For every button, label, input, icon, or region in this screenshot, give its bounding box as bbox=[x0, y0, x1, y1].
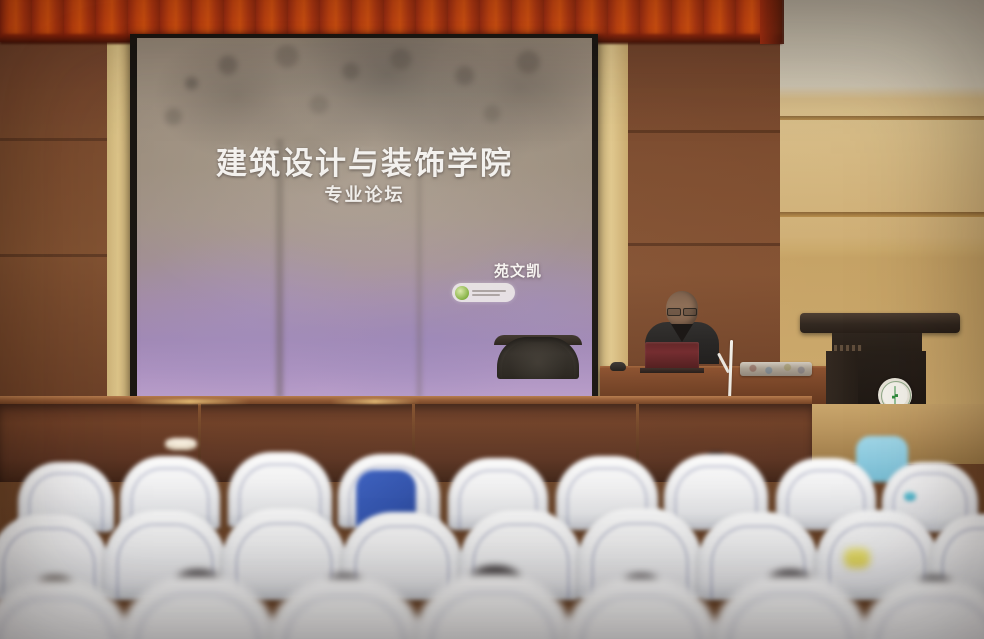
right-pillar bbox=[596, 32, 630, 404]
slide-logo-badge bbox=[452, 283, 515, 302]
yellow-object bbox=[844, 548, 870, 568]
right-wall-trim-upper bbox=[780, 116, 984, 120]
green-circle-logo-icon bbox=[455, 286, 469, 300]
left-wall-trim-lower bbox=[0, 254, 112, 257]
laptop-base bbox=[640, 368, 704, 373]
slide-subtitle: 专业论坛 bbox=[137, 181, 592, 207]
mouse-device bbox=[610, 362, 626, 371]
mid-wall-trim-lower bbox=[628, 243, 784, 246]
slide-title: 建筑设计与装饰学院 bbox=[137, 138, 592, 183]
blue-hair-tie bbox=[904, 492, 916, 501]
barrier-light-reflection bbox=[330, 399, 420, 404]
barrier-light-reflection bbox=[130, 399, 250, 404]
laptop-screen bbox=[645, 342, 699, 370]
right-wall-trim-lower bbox=[780, 212, 984, 217]
badge-text-lines bbox=[472, 290, 506, 296]
left-wall-panel bbox=[0, 36, 112, 396]
slide-presenter-name: 苑文凯 bbox=[494, 260, 542, 281]
speaker-glasses-icon bbox=[666, 308, 698, 314]
curtain-right-edge bbox=[760, 0, 784, 44]
lectern-top bbox=[800, 313, 960, 333]
audience-area bbox=[0, 418, 984, 639]
lecture-hall-photo: 建筑设计与装饰学院 专业论坛 苑文凯 bbox=[0, 0, 984, 639]
hair-bow bbox=[168, 438, 194, 450]
papers-bundle-detail bbox=[740, 362, 812, 376]
stage-chair bbox=[497, 337, 579, 379]
left-wall-trim-upper bbox=[0, 138, 112, 141]
mid-wall-trim-upper bbox=[628, 130, 784, 133]
